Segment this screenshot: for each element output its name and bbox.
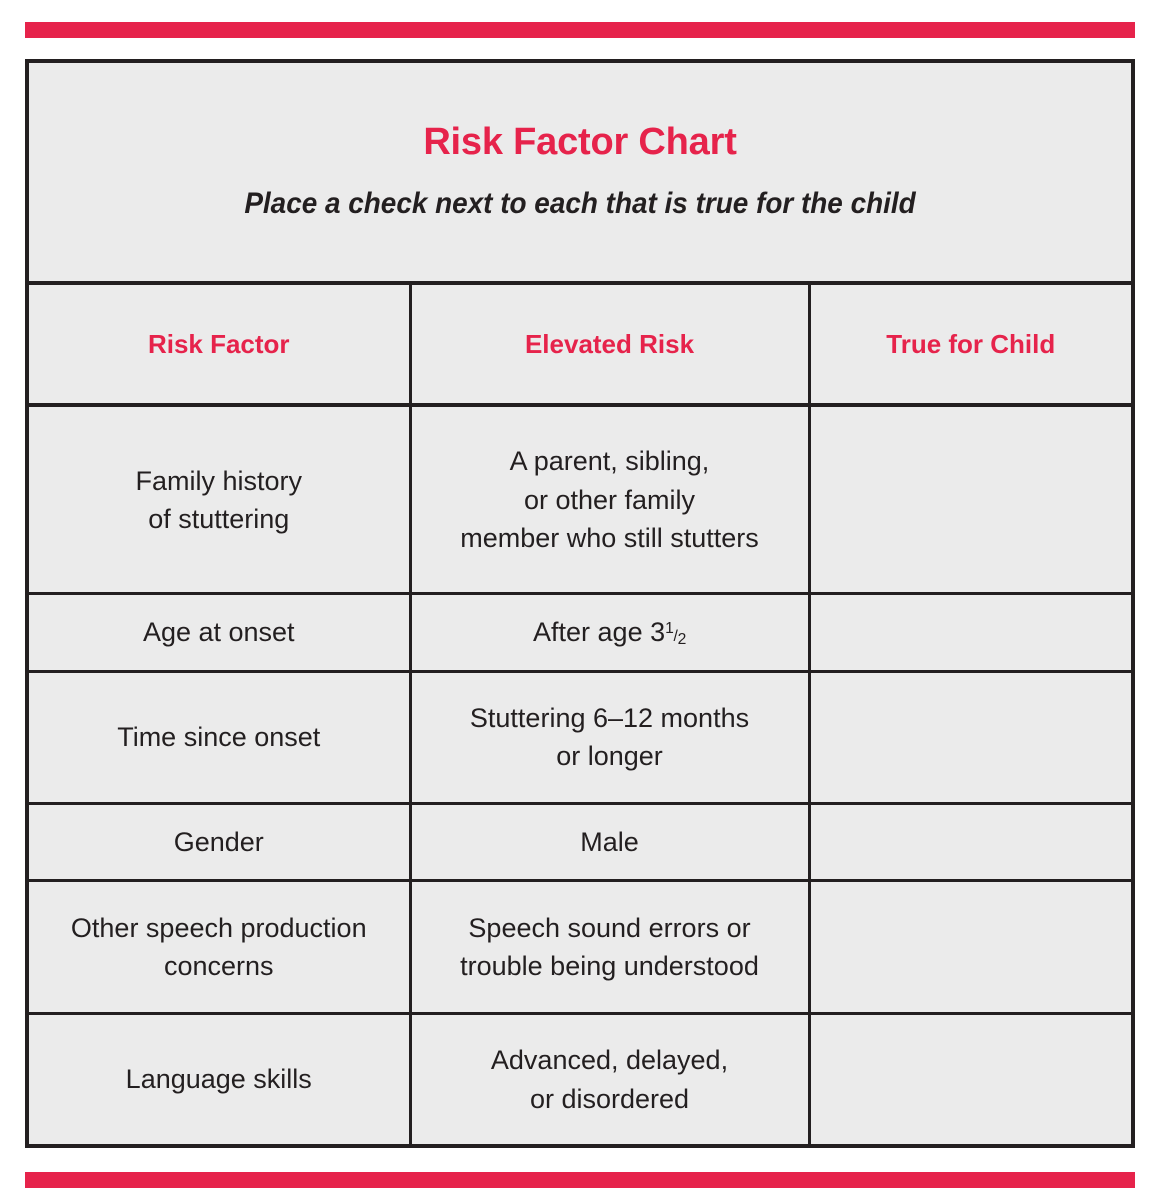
table-row: Time since onset Stuttering 6–12 months …: [29, 671, 1131, 804]
cell-risk-factor: Age at onset: [29, 594, 410, 671]
title-row: Risk Factor Chart Place a check next to …: [29, 63, 1131, 283]
cell-true-for-child[interactable]: [809, 804, 1131, 881]
top-red-rule: [25, 22, 1135, 38]
elevated-risk-line: or other family: [422, 481, 798, 519]
elevated-risk-line: Speech sound errors or: [422, 909, 798, 947]
bottom-red-rule: [25, 1172, 1135, 1188]
risk-factor-line: of stuttering: [39, 500, 399, 538]
fraction-numerator: 1: [665, 621, 673, 638]
column-header-label: Elevated Risk: [525, 329, 694, 359]
cell-risk-factor: Family history of stuttering: [29, 405, 410, 594]
column-header-label: Risk Factor: [148, 329, 290, 359]
elevated-risk-prefix: After age 3: [533, 617, 665, 647]
elevated-risk-line: After age 31/2: [422, 613, 798, 651]
cell-true-for-child[interactable]: [809, 405, 1131, 594]
chart-title-block: Risk Factor Chart Place a check next to …: [29, 63, 1131, 283]
cell-elevated-risk: Male: [410, 804, 809, 881]
elevated-risk-line: Advanced, delayed,: [422, 1041, 798, 1079]
table-header-row: Risk Factor Elevated Risk True for Child: [29, 283, 1131, 405]
column-header-risk-factor: Risk Factor: [29, 283, 410, 405]
column-header-label: True for Child: [886, 329, 1055, 359]
chart-subtitle: Place a check next to each that is true …: [77, 187, 1083, 222]
column-header-elevated-risk: Elevated Risk: [410, 283, 809, 405]
table-row: Family history of stuttering A parent, s…: [29, 405, 1131, 594]
risk-factor-line: Time since onset: [39, 718, 399, 756]
cell-true-for-child[interactable]: [809, 671, 1131, 804]
cell-risk-factor: Gender: [29, 804, 410, 881]
table-row: Age at onset After age 31/2: [29, 594, 1131, 671]
page-root: Risk Factor Chart Place a check next to …: [0, 0, 1157, 1200]
page-title: Risk Factor Chart: [39, 121, 1121, 165]
table-row: Gender Male: [29, 804, 1131, 881]
table-row: Other speech production concerns Speech …: [29, 881, 1131, 1014]
risk-factor-line: concerns: [39, 947, 399, 985]
elevated-risk-line: Stuttering 6–12 months: [422, 699, 798, 737]
cell-elevated-risk: After age 31/2: [410, 594, 809, 671]
risk-factor-line: Gender: [39, 823, 399, 861]
cell-true-for-child[interactable]: [809, 881, 1131, 1014]
elevated-risk-line: or longer: [422, 737, 798, 775]
cell-risk-factor: Other speech production concerns: [29, 881, 410, 1014]
cell-true-for-child[interactable]: [809, 1014, 1131, 1144]
risk-factor-line: Age at onset: [39, 613, 399, 651]
table-row: Language skills Advanced, delayed, or di…: [29, 1014, 1131, 1144]
risk-factor-line: Family history: [39, 462, 399, 500]
risk-factor-chart: Risk Factor Chart Place a check next to …: [25, 59, 1135, 1148]
fraction-denominator: 2: [678, 631, 686, 648]
cell-elevated-risk: A parent, sibling, or other family membe…: [410, 405, 809, 594]
cell-elevated-risk: Speech sound errors or trouble being und…: [410, 881, 809, 1014]
risk-factor-line: Language skills: [39, 1060, 399, 1098]
cell-elevated-risk: Stuttering 6–12 months or longer: [410, 671, 809, 804]
risk-factor-line: Other speech production: [39, 909, 399, 947]
elevated-risk-line: member who still stutters: [422, 519, 798, 557]
risk-factor-table: Risk Factor Chart Place a check next to …: [29, 63, 1131, 1144]
elevated-risk-line: Male: [422, 823, 798, 861]
cell-risk-factor: Time since onset: [29, 671, 410, 804]
cell-true-for-child[interactable]: [809, 594, 1131, 671]
elevated-risk-line: A parent, sibling,: [422, 442, 798, 480]
cell-elevated-risk: Advanced, delayed, or disordered: [410, 1014, 809, 1144]
column-header-true-for-child: True for Child: [809, 283, 1131, 405]
elevated-risk-line: or disordered: [422, 1080, 798, 1118]
one-half-fraction: 1/2: [665, 628, 686, 645]
cell-risk-factor: Language skills: [29, 1014, 410, 1144]
elevated-risk-line: trouble being understood: [422, 947, 798, 985]
